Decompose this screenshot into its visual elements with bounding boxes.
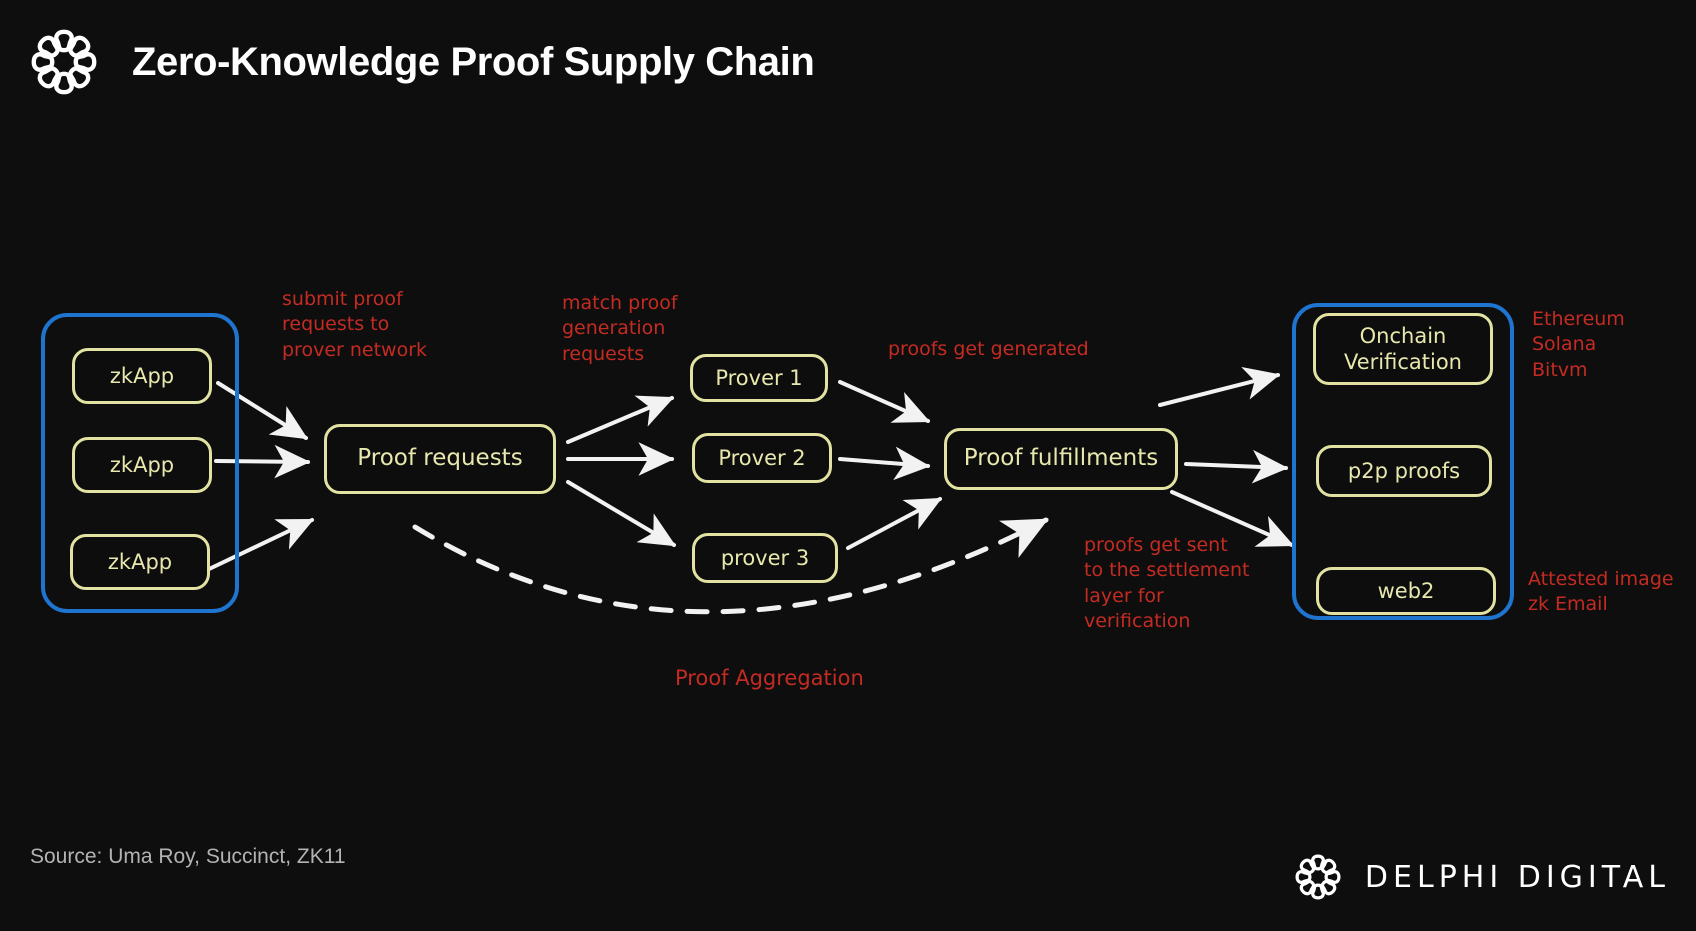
delphi-knot-logo-icon — [22, 20, 106, 104]
node-web2[interactable]: web2 — [1316, 567, 1496, 615]
node-label: prover 3 — [721, 546, 809, 571]
annotation-proof-aggregation: Proof Aggregation — [675, 665, 864, 693]
node-label: zkApp — [110, 453, 174, 478]
delphi-knot-logo-icon — [1289, 848, 1347, 906]
node-proof-fulfillments[interactable]: Proof fulfillments — [944, 428, 1178, 490]
node-label: p2p proofs — [1348, 459, 1460, 484]
edge-proofrequests-prover1 — [568, 398, 672, 442]
node-prover-3[interactable]: prover 3 — [692, 533, 838, 583]
node-label: Onchain Verification — [1344, 323, 1462, 376]
node-p2p-proofs[interactable]: p2p proofs — [1316, 445, 1492, 497]
annotation-submit-proof-requests: submit proof requests to prover network — [282, 287, 427, 363]
annotation-proofs-get-sent: proofs get sent to the settlement layer … — [1084, 533, 1249, 634]
node-label: Proof fulfillments — [964, 445, 1158, 472]
node-label: Prover 2 — [718, 446, 805, 471]
footer-brand: DELPHI DIGITAL — [1289, 848, 1670, 906]
source-caption: Source: Uma Roy, Succinct, ZK11 — [30, 845, 346, 869]
node-prover-2[interactable]: Prover 2 — [692, 433, 832, 483]
node-prover-1[interactable]: Prover 1 — [690, 354, 828, 402]
edge-prover2-prooffulfillments — [840, 459, 928, 466]
node-zkapp-1[interactable]: zkApp — [72, 348, 212, 404]
node-onchain-verification[interactable]: Onchain Verification — [1313, 313, 1493, 385]
diagram-canvas: Zero-Knowledge Proof Supply Chain — [0, 0, 1696, 931]
node-zkapp-2[interactable]: zkApp — [72, 437, 212, 493]
node-label: web2 — [1378, 579, 1435, 604]
annotation-chains: Ethereum Solana Bitvm — [1532, 307, 1625, 383]
annotation-match-proof-generation: match proof generation requests — [562, 291, 678, 367]
node-label: Proof requests — [357, 445, 522, 472]
edge-prooffulfillments-onchain — [1160, 375, 1278, 405]
annotation-attested-image: Attested image zk Email — [1528, 567, 1674, 618]
edge-prooffulfillments-p2p — [1186, 464, 1286, 468]
node-label: zkApp — [110, 364, 174, 389]
edge-proofrequests-prover3 — [568, 482, 674, 545]
annotation-proofs-get-generated: proofs get generated — [888, 337, 1089, 362]
edge-prover1-prooffulfillments — [840, 382, 928, 421]
footer-brand-wordmark: DELPHI DIGITAL — [1365, 860, 1670, 895]
edge-prover3-prooffulfillments — [848, 499, 940, 548]
page-title: Zero-Knowledge Proof Supply Chain — [132, 40, 814, 85]
node-label: Prover 1 — [715, 366, 802, 391]
node-label: zkApp — [108, 550, 172, 575]
node-zkapp-3[interactable]: zkApp — [70, 534, 210, 590]
node-proof-requests[interactable]: Proof requests — [324, 424, 556, 494]
page-header: Zero-Knowledge Proof Supply Chain — [22, 20, 814, 104]
